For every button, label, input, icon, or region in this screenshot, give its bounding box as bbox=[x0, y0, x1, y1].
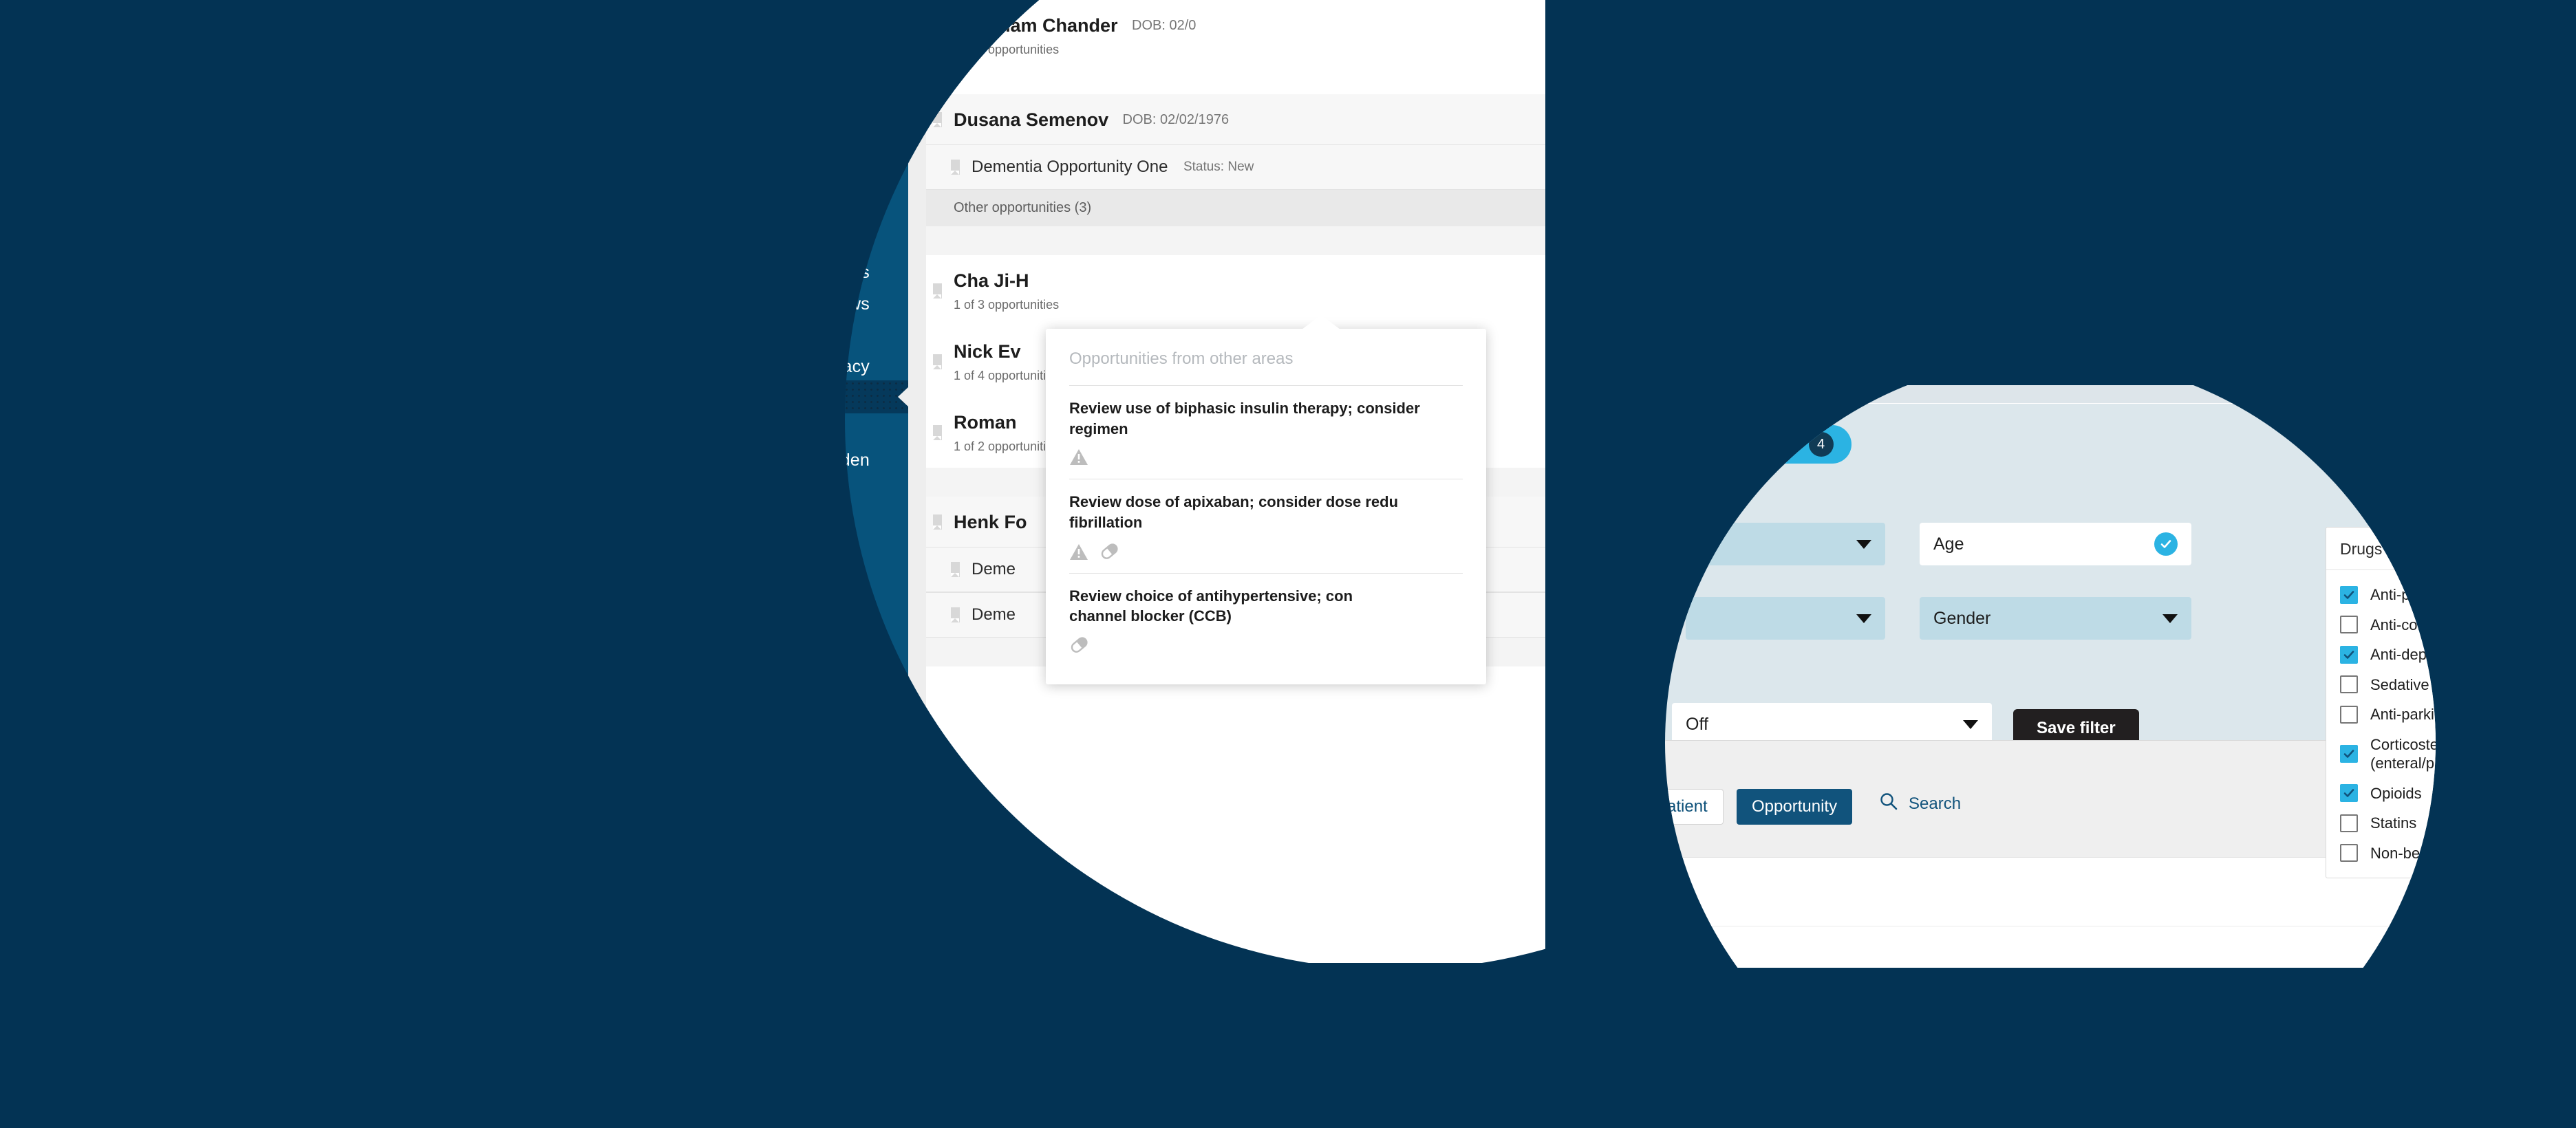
sidebar-item-0[interactable]: ations bbox=[845, 256, 908, 289]
pill-icon bbox=[1099, 543, 1120, 561]
patient-row[interactable]: Cha Ji-H 1 of 3 opportunities bbox=[926, 255, 1545, 326]
chevron-down-icon bbox=[2162, 614, 2178, 623]
popover-heading: Opportunities from other areas bbox=[1069, 349, 1463, 369]
tab-badge: 4 bbox=[1809, 432, 1834, 457]
results-row-area bbox=[1665, 857, 2436, 926]
results-row-area-2 bbox=[1665, 926, 2436, 968]
checkbox-icon[interactable] bbox=[2340, 814, 2358, 832]
sidebar-item-label: den bbox=[845, 444, 870, 477]
right-detail-circle: r Interest 4 Age Gender Off S bbox=[1665, 358, 2436, 1128]
opportunity-status: Status: New bbox=[1183, 160, 1254, 175]
patient-row[interactable]: Dusana Semenov DOB: 02/02/1976 bbox=[926, 94, 1545, 144]
patient-name: Henk Fo bbox=[954, 512, 1027, 533]
search-icon bbox=[1878, 791, 1899, 816]
status-select[interactable]: Off bbox=[1672, 703, 1992, 746]
filter-field-row1-left[interactable] bbox=[1686, 523, 1885, 565]
chevron-down-icon bbox=[1963, 720, 1978, 729]
sidebar: ations on Reviews armacy den bbox=[845, 0, 908, 963]
drug-checkbox-row[interactable]: Sedative anti-his bbox=[2326, 670, 2436, 700]
bookmark-icon bbox=[933, 28, 942, 43]
bookmark-icon bbox=[951, 607, 960, 622]
drug-checkbox-row[interactable]: Statins bbox=[2326, 808, 2436, 838]
drug-label: Corticosteroids (enteral/parente bbox=[2370, 735, 2436, 773]
popover-item-text: Review use of biphasic insulin therapy; … bbox=[1069, 398, 1463, 439]
popover-item[interactable]: Review use of biphasic insulin therapy; … bbox=[1069, 385, 1463, 479]
status-select-value: Off bbox=[1686, 715, 1708, 735]
popover-item-icons bbox=[1069, 636, 1463, 657]
drug-label: Sedative anti-his bbox=[2370, 675, 2436, 695]
chevron-down-icon bbox=[1856, 614, 1871, 623]
sidebar-item-active[interactable] bbox=[845, 380, 908, 413]
drug-label: Anti-parkinsonia bbox=[2370, 705, 2436, 724]
patient-name: Nick Ev bbox=[954, 341, 1021, 362]
filter-field-row2-left[interactable] bbox=[1686, 597, 1885, 640]
tab-drugs-of-interest[interactable]: r Interest 4 bbox=[1699, 425, 1851, 464]
sidebar-item-label: ations bbox=[845, 256, 870, 289]
segment-opportunity-label: Opportunity bbox=[1752, 797, 1837, 816]
patient-dob: DOB: 02/0 bbox=[1132, 18, 1196, 34]
drug-checkbox-row[interactable]: Anti-convulsa bbox=[2326, 610, 2436, 640]
search-label: Search bbox=[1909, 794, 1961, 814]
segment-patient-label: atient bbox=[1667, 797, 1708, 816]
tab-label: r Interest bbox=[1723, 434, 1794, 455]
checkbox-checked-icon[interactable] bbox=[2340, 646, 2358, 664]
other-opportunities-popover: Opportunities from other areas Review us… bbox=[1046, 329, 1486, 684]
checkbox-checked-icon[interactable] bbox=[2340, 745, 2358, 763]
drug-checkbox-row[interactable]: Anti-depressan bbox=[2326, 640, 2436, 670]
bookmark-icon bbox=[933, 112, 942, 127]
popover-item-text: Review dose of apixaban; consider dose r… bbox=[1069, 492, 1463, 532]
drug-checkbox-row[interactable]: Opioids bbox=[2326, 779, 2436, 809]
search-button[interactable]: Search bbox=[1878, 791, 1961, 816]
panel-chrome-strip bbox=[1665, 385, 2436, 403]
checkbox-icon[interactable] bbox=[2340, 675, 2358, 693]
drugs-of-interest-list: Anti-psychot Anti-convulsa Anti-depressa… bbox=[2326, 570, 2436, 878]
checkbox-checked-icon[interactable] bbox=[2340, 586, 2358, 604]
sidebar-item-4[interactable]: den bbox=[845, 444, 908, 477]
opportunity-row[interactable]: Dementia Opportunity One Status: New bbox=[926, 144, 1545, 190]
bookmark-icon bbox=[933, 514, 942, 530]
filter-field-age[interactable]: Age bbox=[1920, 523, 2191, 565]
drug-label: Opioids bbox=[2370, 784, 2422, 803]
drug-label: Anti-psychot bbox=[2370, 585, 2436, 605]
save-filter-label: Save filter bbox=[2037, 719, 2116, 737]
bookmark-icon bbox=[933, 354, 942, 369]
sidebar-item-2[interactable]: armacy bbox=[845, 350, 908, 383]
drug-checkbox-row[interactable]: Anti-psychot bbox=[2326, 580, 2436, 610]
pill-icon bbox=[1069, 636, 1090, 654]
bookmark-icon bbox=[933, 283, 942, 299]
drugs-of-interest-panel: Drugs of int Anti-psychot Anti-convulsa … bbox=[2326, 527, 2436, 878]
filter-field-value: Gender bbox=[1933, 609, 1990, 629]
checkbox-checked-icon[interactable] bbox=[2340, 784, 2358, 802]
segment-patient[interactable]: atient bbox=[1665, 789, 1724, 825]
checkbox-icon[interactable] bbox=[2340, 844, 2358, 862]
drug-label: Statins bbox=[2370, 814, 2416, 833]
sidebar-item-1[interactable]: on Reviews bbox=[845, 288, 908, 321]
drug-checkbox-row[interactable]: Corticosteroids (enteral/parente bbox=[2326, 730, 2436, 779]
patient-opportunity-count: 1 of 3 opportunities bbox=[954, 298, 1545, 312]
patient-dob: DOB: 02/02/1976 bbox=[1123, 112, 1230, 128]
drug-label: Anti-convulsa bbox=[2370, 616, 2436, 635]
bookmark-icon bbox=[933, 425, 942, 440]
drug-checkbox-row[interactable]: Non-benzo bbox=[2326, 838, 2436, 869]
opportunity-title: Deme bbox=[972, 560, 1016, 579]
list-spacer bbox=[926, 71, 1545, 94]
opportunity-title: Deme bbox=[972, 605, 1016, 625]
bookmark-icon bbox=[951, 160, 960, 175]
popover-item[interactable]: Review choice of antihypertensive; con c… bbox=[1069, 573, 1463, 666]
chevron-down-icon bbox=[1856, 540, 1871, 549]
list-gutter bbox=[908, 0, 926, 963]
checkbox-icon[interactable] bbox=[2340, 706, 2358, 724]
sidebar-item-label: on Reviews bbox=[845, 288, 870, 321]
drug-label: Anti-depressan bbox=[2370, 645, 2436, 664]
warning-icon bbox=[1069, 448, 1087, 465]
popover-item-text: Review choice of antihypertensive; con c… bbox=[1069, 586, 1463, 627]
patient-name: Roman bbox=[954, 412, 1017, 433]
patient-name: Cha Ji-H bbox=[954, 270, 1029, 292]
segment-opportunity[interactable]: Opportunity bbox=[1737, 789, 1852, 825]
right-app-surface: r Interest 4 Age Gender Off S bbox=[1665, 358, 2436, 963]
other-opportunities-label: Other opportunities (3) bbox=[954, 200, 1091, 215]
patient-opportunity-count: 2 of 4 opportunities bbox=[954, 43, 1545, 57]
drug-label: Non-benzo bbox=[2370, 844, 2436, 863]
drug-checkbox-row[interactable]: Anti-parkinsonia bbox=[2326, 699, 2436, 730]
list-spacer bbox=[926, 226, 1545, 255]
other-opportunities-toggle[interactable]: Other opportunities (3) bbox=[926, 190, 1545, 226]
warning-icon bbox=[1069, 543, 1087, 560]
bookmark-icon bbox=[951, 562, 960, 577]
filter-field-value: Age bbox=[1933, 534, 1964, 554]
patient-name: Sukhnam Chander bbox=[954, 15, 1118, 36]
patient-row[interactable]: Sukhnam Chander DOB: 02/0 2 of 4 opportu… bbox=[926, 0, 1545, 71]
check-circle-icon bbox=[2154, 532, 2178, 556]
checkbox-icon[interactable] bbox=[2340, 616, 2358, 633]
patient-name: Dusana Semenov bbox=[954, 109, 1108, 131]
popover-item[interactable]: Review dose of apixaban; consider dose r… bbox=[1069, 479, 1463, 572]
opportunity-title: Dementia Opportunity One bbox=[972, 158, 1168, 177]
popover-item-icons bbox=[1069, 543, 1463, 563]
sidebar-item-label: armacy bbox=[845, 350, 870, 383]
left-app-surface: ations on Reviews armacy den Sukhnam Cha… bbox=[845, 0, 1582, 963]
drugs-of-interest-heading: Drugs of int bbox=[2326, 528, 2436, 570]
popover-item-icons bbox=[1069, 448, 1463, 469]
filter-field-gender[interactable]: Gender bbox=[1920, 597, 2191, 640]
